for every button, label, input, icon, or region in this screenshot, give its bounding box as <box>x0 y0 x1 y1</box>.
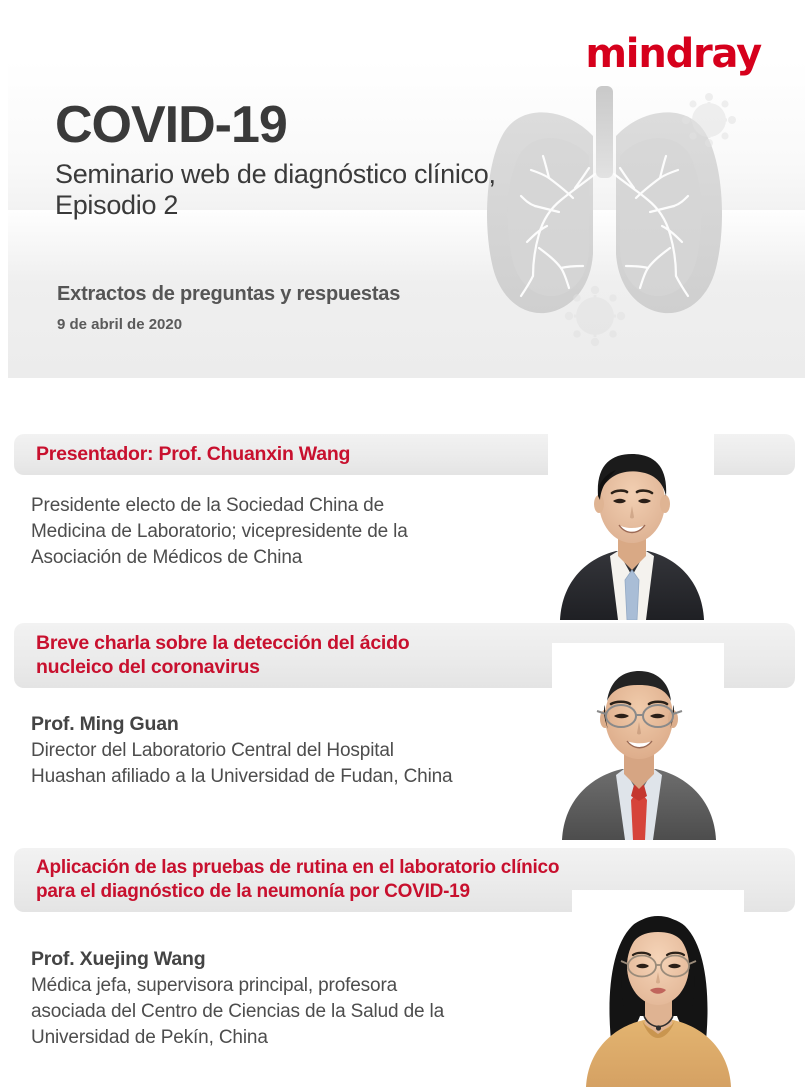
mindray-logo: mindray <box>585 34 761 74</box>
speaker-portrait-2 <box>552 643 724 840</box>
page-title: COVID-19 <box>55 98 505 153</box>
date-label: 9 de abril de 2020 <box>57 316 182 333</box>
speaker-portrait-3 <box>572 890 744 1087</box>
section-label: Extractos de preguntas y respuestas <box>57 283 400 306</box>
speaker-section-1: Presentador: Prof. Chuanxin Wang Preside… <box>0 425 805 620</box>
speaker-bio-1: Presidente electo de la Sociedad China d… <box>31 493 561 572</box>
header-banner: mindray COVID-19 Seminario web de diagnó… <box>0 0 805 378</box>
speaker-bio-2: Director del Laboratorio Central del Hos… <box>31 738 561 790</box>
speaker-section-2: Breve charla sobre la detección del ácid… <box>0 615 805 840</box>
speaker-portrait-1 <box>548 430 714 620</box>
speaker-name-2: Prof. Ming Guan <box>31 713 179 736</box>
speaker-section-3: Aplicación de las pruebas de rutina en e… <box>0 840 805 1087</box>
speaker-bio-3: Médica jefa, supervisora principal, prof… <box>31 973 561 1052</box>
title-block: COVID-19 Seminario web de diagnóstico cl… <box>55 98 505 222</box>
page-subtitle: Seminario web de diagnóstico clínico, Ep… <box>55 159 505 223</box>
speaker-name-3: Prof. Xuejing Wang <box>31 948 205 971</box>
